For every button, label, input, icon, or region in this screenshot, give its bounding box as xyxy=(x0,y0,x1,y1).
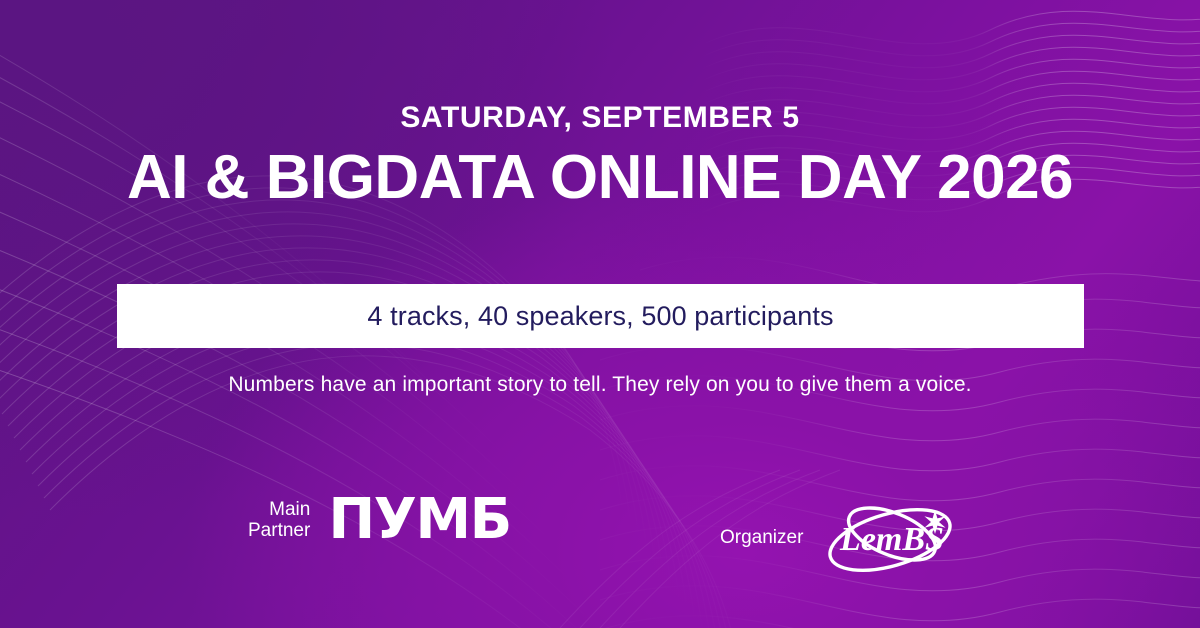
main-partner-block: Main Partner ПУМБ xyxy=(248,492,511,548)
main-partner-label: Main Partner xyxy=(248,499,310,542)
lembs-wordmark: LemBS xyxy=(839,521,944,558)
event-subtitle: Numbers have an important story to tell.… xyxy=(0,373,1200,397)
banner-content: SATURDAY, SEPTEMBER 5 AI & BIGDATA ONLIN… xyxy=(0,0,1200,628)
pumb-logo: ПУМБ xyxy=(328,492,510,548)
organizer-label: Organizer xyxy=(720,527,803,548)
lembs-logo: LemBS xyxy=(817,488,967,588)
promo-banner: SATURDAY, SEPTEMBER 5 AI & BIGDATA ONLIN… xyxy=(0,0,1200,628)
event-date-kicker: SATURDAY, SEPTEMBER 5 xyxy=(0,103,1200,133)
tagline-text: 4 tracks, 40 speakers, 500 participants xyxy=(367,301,833,332)
sponsor-row: Main Partner ПУМБ Organizer xyxy=(0,478,1200,588)
tagline-bar: 4 tracks, 40 speakers, 500 participants xyxy=(117,284,1084,348)
organizer-block: Organizer LemB xyxy=(720,488,967,588)
event-title: AI & BIGDATA ONLINE DAY 2026 xyxy=(0,145,1200,210)
